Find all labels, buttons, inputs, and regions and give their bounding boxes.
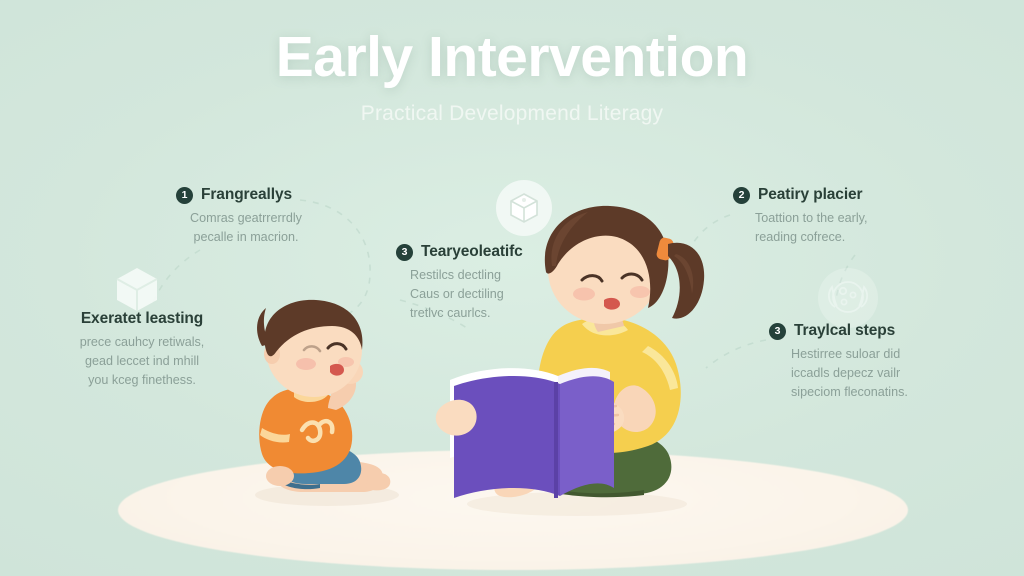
callout-1-heading: 1 Frangreallys bbox=[176, 186, 302, 204]
header: Early Intervention Practical Developmend… bbox=[0, 28, 1024, 126]
callout-3-title: Tearyeoleatifc bbox=[421, 243, 523, 261]
callout-left-heading: Exeratet leasting bbox=[52, 310, 232, 328]
callout-2-body-line: Toattion to the early, bbox=[755, 209, 867, 228]
callout-3-badge: 3 bbox=[396, 244, 413, 261]
callout-4-body-line: Hestirree suloar did bbox=[791, 345, 908, 364]
callout-3-body-line: Caus or dectiling bbox=[410, 285, 523, 304]
callout-left-body-line: gead leccet ind mhill bbox=[52, 352, 232, 371]
callout-4-heading: 3 Traylcal steps bbox=[769, 322, 908, 340]
callout-3-heading: 3 Tearyeoleatifc bbox=[396, 243, 523, 261]
callout-2-heading: 2 Peatiry placier bbox=[733, 186, 867, 204]
callout-2-badge: 2 bbox=[733, 187, 750, 204]
callout-block-1: 1 Frangreallys Comras geatrrerrdly pecal… bbox=[176, 186, 302, 247]
callout-2-title: Peatiry placier bbox=[758, 186, 862, 204]
callout-block-2: 2 Peatiry placier Toattion to the early,… bbox=[733, 186, 867, 247]
callout-1-title: Frangreallys bbox=[201, 186, 292, 204]
infographic-canvas: Early Intervention Practical Developmend… bbox=[0, 0, 1024, 576]
callout-1-body-line: pecalle in macrion. bbox=[190, 228, 302, 247]
callout-left-body: prece cauhcy retiwals, gead leccet ind m… bbox=[52, 333, 232, 390]
callout-4-title: Traylcal steps bbox=[794, 322, 895, 340]
callout-left-body-line: you kceg finethess. bbox=[52, 371, 232, 390]
callout-4-body: Hestirree suloar did iccadls depecz vail… bbox=[791, 345, 908, 402]
award-wreath-icon bbox=[818, 268, 878, 328]
page-subtitle: Practical Developmend Literagy bbox=[0, 102, 1024, 126]
callout-4-body-line: iccadls depecz vailr bbox=[791, 364, 908, 383]
callout-1-body: Comras geatrrerrdly pecalle in macrion. bbox=[190, 209, 302, 247]
callout-4-body-line: sipeciom fleconatins. bbox=[791, 383, 908, 402]
cube-icon bbox=[496, 180, 552, 236]
callout-1-body-line: Comras geatrrerrdly bbox=[190, 209, 302, 228]
callout-1-badge: 1 bbox=[176, 187, 193, 204]
callout-block-4: 3 Traylcal steps Hestirree suloar did ic… bbox=[769, 322, 908, 402]
callout-4-badge: 3 bbox=[769, 323, 786, 340]
callout-3-body-line: Restilcs dectling bbox=[410, 266, 523, 285]
callout-2-body: Toattion to the early, reading cofrece. bbox=[755, 209, 867, 247]
callout-block-left: Exeratet leasting prece cauhcy retiwals,… bbox=[52, 310, 232, 390]
callout-left-title: Exeratet leasting bbox=[81, 310, 203, 328]
page-title: Early Intervention bbox=[0, 28, 1024, 88]
callout-block-3: 3 Tearyeoleatifc Restilcs dectling Caus … bbox=[396, 243, 523, 323]
callout-3-body: Restilcs dectling Caus or dectiling tret… bbox=[410, 266, 523, 323]
callout-2-body-line: reading cofrece. bbox=[755, 228, 867, 247]
callout-left-body-line: prece cauhcy retiwals, bbox=[52, 333, 232, 352]
boy-illustration bbox=[232, 292, 422, 507]
callout-3-body-line: tretlvc caurlcs. bbox=[410, 304, 523, 323]
